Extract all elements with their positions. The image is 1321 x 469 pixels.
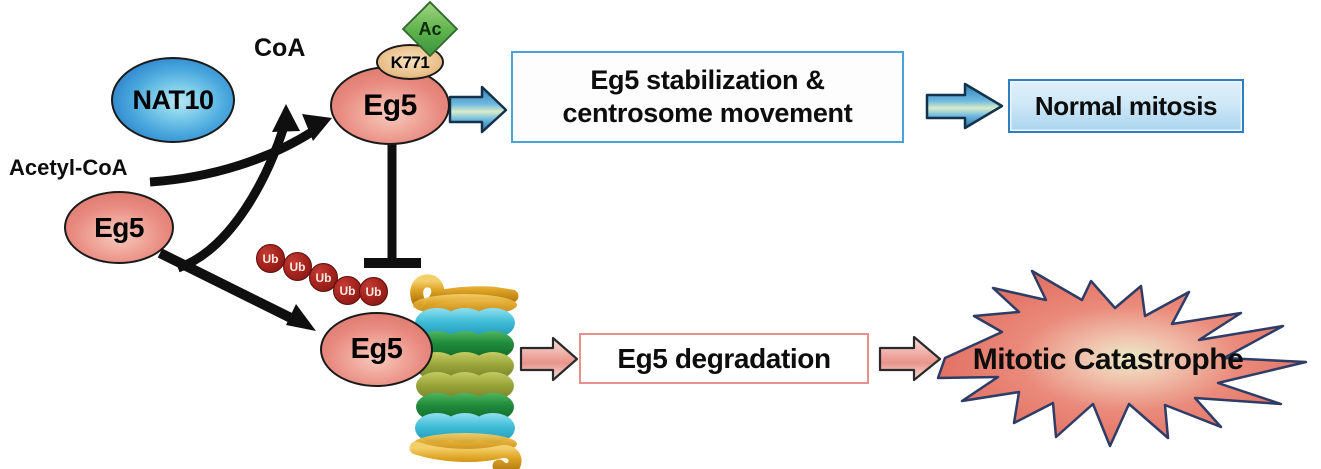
ub-bead-5: Ub (359, 277, 388, 306)
inhibition-tbar-acetyl-blocks-degradation (364, 144, 421, 263)
box-eg5-stabilization-line1: Eg5 stabilization & (563, 64, 853, 97)
box-normal-mitosis-label: Normal mitosis (1035, 91, 1217, 122)
ub-bead-2: Ub (283, 252, 312, 281)
box-eg5-stabilization-text: Eg5 stabilization & centrosome movement (563, 64, 853, 130)
ub-bead-5-label: Ub (366, 286, 382, 298)
ub-bead-3-label: Ub (316, 272, 332, 284)
label-mitotic-catastrophe: Mitotic Catastrophe (973, 345, 1244, 375)
block-arrow-to-mitotic-catastrophe (880, 337, 940, 380)
ub-bead-1: Ub (256, 244, 285, 273)
node-ac-label-wrap: Ac (404, 3, 456, 55)
node-eg5-ubiquitinated[interactable]: Eg5 (320, 312, 433, 387)
label-mitotic-catastrophe-wrap[interactable]: Mitotic Catastrophe (958, 343, 1258, 377)
node-eg5-substrate[interactable]: Eg5 (64, 191, 174, 264)
node-ac-label: Ac (418, 20, 441, 38)
box-normal-mitosis[interactable]: Normal mitosis (1008, 79, 1244, 133)
node-eg5-acetylated-label: Eg5 (363, 91, 417, 121)
block-arrow-to-normal-mitosis (927, 84, 1002, 128)
node-nat10[interactable]: NAT10 (111, 57, 235, 143)
label-coa: CoA (254, 36, 305, 61)
node-k771-label: K771 (391, 54, 430, 71)
block-arrow-to-eg5-degradation (521, 338, 577, 380)
node-ac-group[interactable]: Ac (404, 3, 456, 55)
box-eg5-stabilization-line2: centrosome movement (563, 97, 853, 130)
ub-bead-4: Ub (333, 276, 362, 305)
pathway-diagram-canvas: NAT10 Acetyl-CoA CoA Eg5 Eg5 K771 Ac Ub … (0, 0, 1321, 469)
ub-bead-1-label: Ub (263, 253, 279, 265)
proteasome-barrel (413, 281, 517, 469)
node-eg5-substrate-label: Eg5 (94, 214, 144, 242)
block-arrow-to-stabilization (450, 87, 506, 132)
label-acetyl-coa: Acetyl-CoA (9, 157, 128, 179)
ub-bead-4-label: Ub (340, 285, 356, 297)
node-eg5-ubiquitinated-label: Eg5 (351, 335, 403, 364)
ub-bead-2-label: Ub (290, 261, 306, 273)
box-eg5-degradation[interactable]: Eg5 degradation (579, 333, 869, 384)
box-eg5-stabilization[interactable]: Eg5 stabilization & centrosome movement (511, 51, 904, 143)
node-nat10-label: NAT10 (132, 87, 213, 114)
node-eg5-acetylated[interactable]: Eg5 (330, 66, 450, 145)
box-eg5-degradation-label: Eg5 degradation (617, 343, 830, 375)
